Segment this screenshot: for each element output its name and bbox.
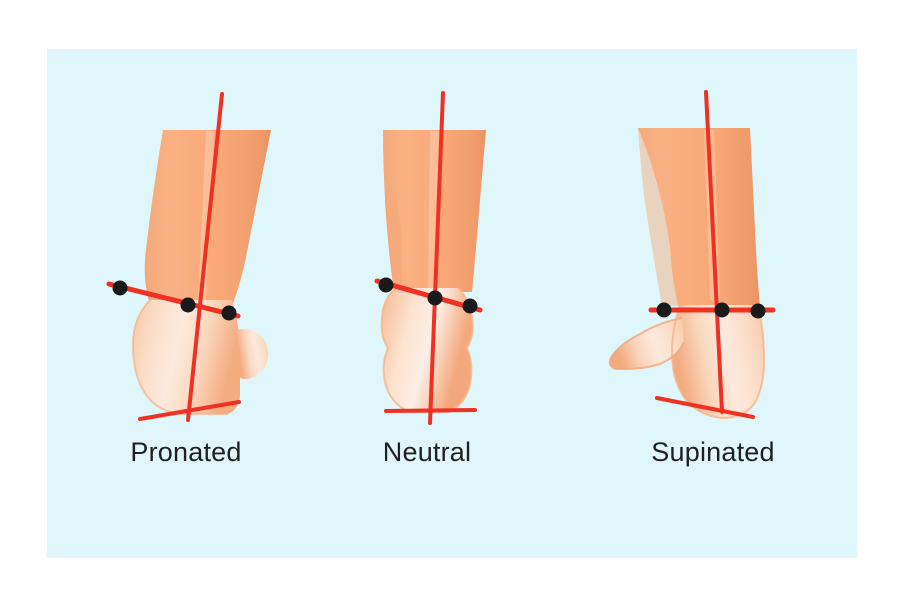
- neutral-base-line: [386, 410, 475, 411]
- figure-label-pronated: Pronated: [130, 437, 241, 468]
- neutral-lateral-malleolus-marker: [463, 299, 478, 314]
- figure-label-supinated: Supinated: [651, 437, 774, 468]
- supinated-axis-intersection-marker: [715, 303, 730, 318]
- figure-neutral: [377, 93, 486, 423]
- pronated-axis-intersection-marker: [181, 298, 196, 313]
- foot-posture-illustration: Pronated Neutral Supinated: [0, 0, 900, 599]
- pronated-medial-malleolus-marker: [113, 281, 128, 296]
- supinated-medial-malleolus-marker: [657, 303, 672, 318]
- neutral-axis-intersection-marker: [428, 291, 443, 306]
- illustration-canvas: [0, 0, 900, 599]
- figure-label-neutral: Neutral: [383, 437, 471, 468]
- pronated-lateral-malleolus-marker: [222, 306, 237, 321]
- neutral-medial-malleolus-marker: [379, 278, 394, 293]
- supinated-lateral-malleolus-marker: [751, 304, 766, 319]
